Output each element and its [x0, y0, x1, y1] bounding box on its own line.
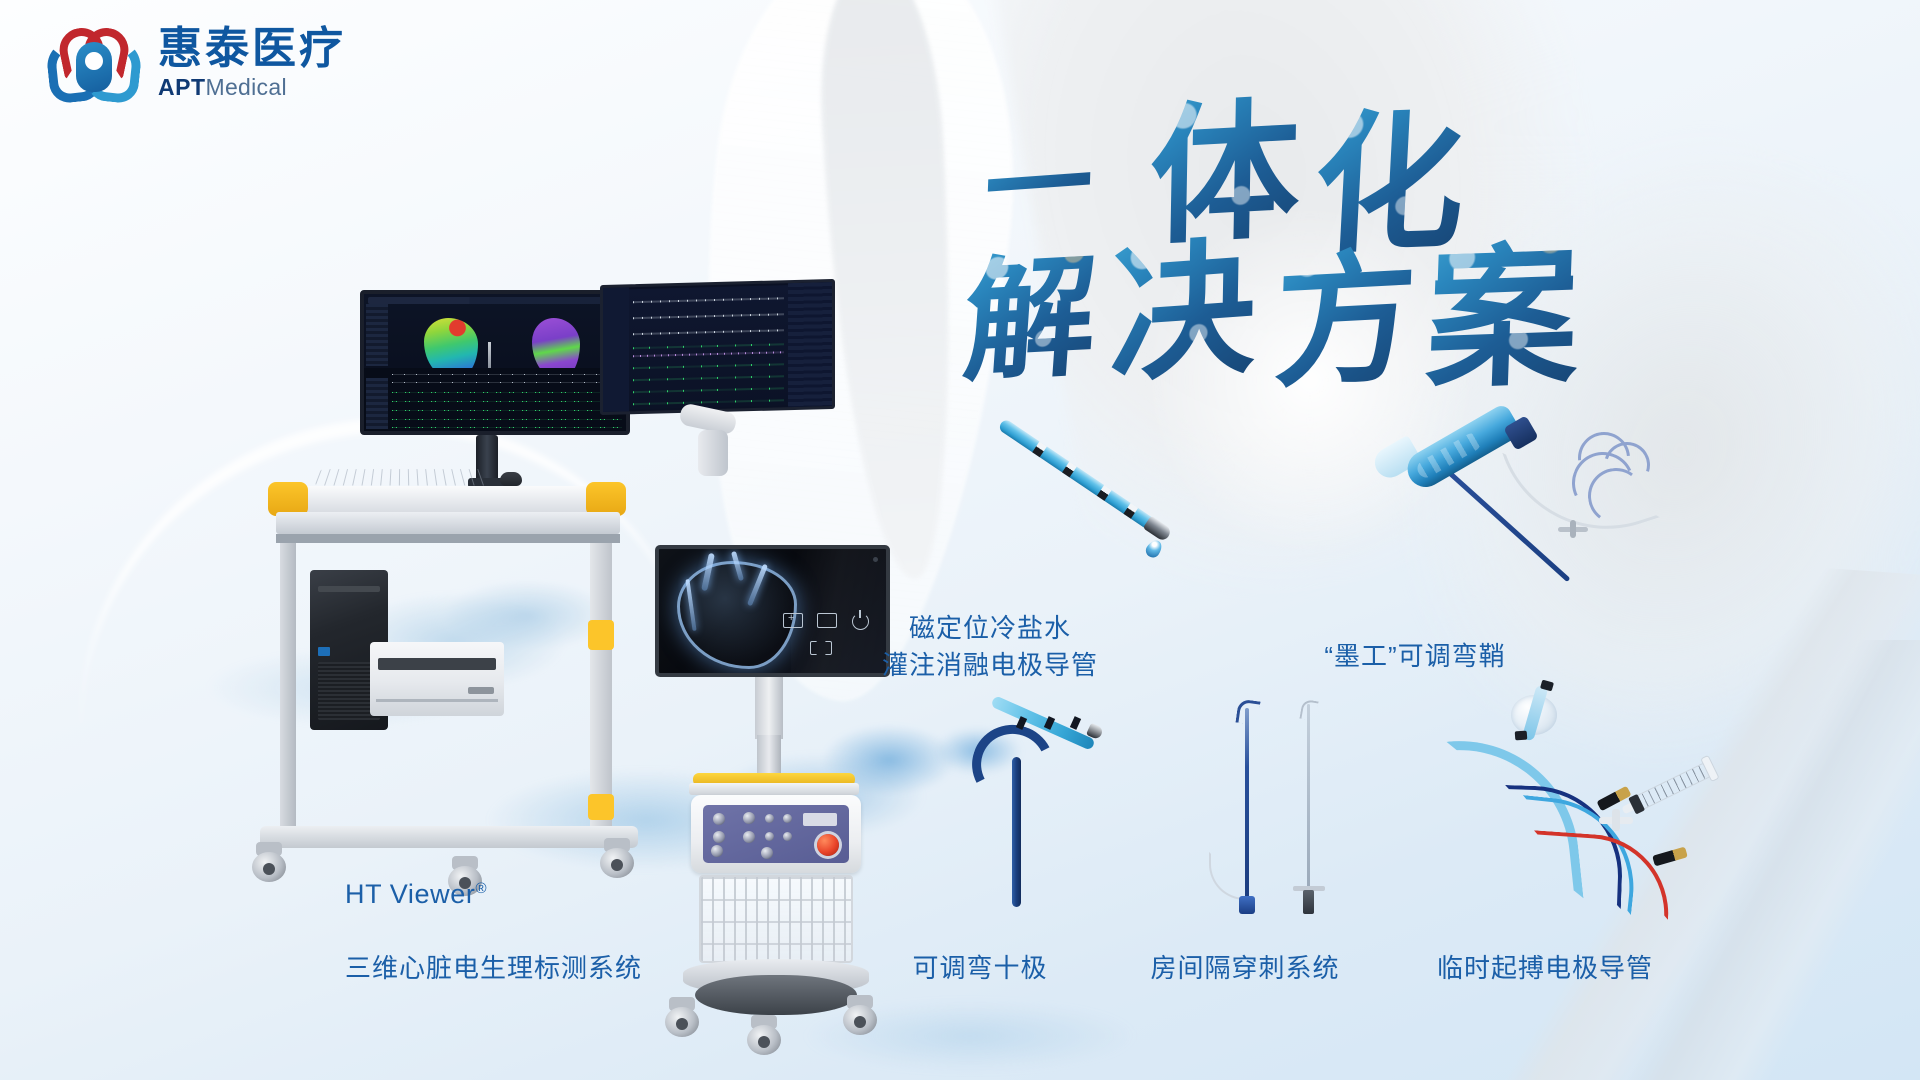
workstation-mouse[interactable]: [500, 472, 522, 486]
connector-port[interactable]: [743, 812, 755, 824]
pc-badge-icon: [318, 647, 330, 656]
sheath-hemostasis-valve: [1558, 520, 1588, 538]
logo-english-name: APTMedical: [158, 74, 346, 102]
logo-medical-text: Medical: [206, 74, 287, 100]
label-irrigated-catheter: 磁定位冷盐水 灌注消融电极导管: [860, 610, 1120, 684]
cart-storage-basket: [699, 875, 853, 963]
cart-handle-right[interactable]: [586, 482, 626, 516]
inflation-syringe: [1623, 748, 1733, 820]
emergency-stop-button[interactable]: [817, 834, 839, 856]
caster-hub: [854, 1016, 866, 1028]
cart-accent-block-lower: [588, 794, 614, 820]
caster-hub: [263, 863, 275, 875]
transseptal-puncture-system-image: [1215, 700, 1335, 915]
ecg-recording-monitor: [600, 279, 835, 415]
logo-core-shape: [76, 42, 112, 92]
cart-column-right: [590, 543, 612, 833]
dilator-curved-tip: [1299, 699, 1318, 721]
label-pacing-catheter: 临时起搏电极导管: [1405, 950, 1685, 987]
monitor-sidebar-channels: [366, 304, 388, 366]
ecg-trace: [392, 427, 622, 429]
ground-port[interactable]: [711, 845, 723, 857]
report-printer: [370, 642, 504, 716]
catheter-shaft: [997, 418, 1158, 532]
recording-tree-panel: [603, 287, 629, 412]
ht-viewer-name-cn: 三维心脏电生理标测系统: [345, 950, 642, 987]
rf-generator-connector-panel[interactable]: [703, 805, 849, 863]
ecg-trace: [392, 382, 622, 384]
connector-port[interactable]: [783, 832, 792, 841]
cart-caster: [252, 842, 286, 882]
saline-droplet: [1143, 537, 1165, 560]
display-mount-neck: [755, 677, 783, 739]
label-steerable-sheath: “墨工”可调弯鞘: [1290, 638, 1540, 675]
cart-handle-left[interactable]: [268, 482, 308, 516]
connector-port[interactable]: [765, 814, 774, 823]
screen-indicator-led: [873, 557, 878, 562]
connector-port[interactable]: [783, 814, 792, 823]
mapping-system-monitor: [360, 290, 630, 435]
coax-port[interactable]: [761, 847, 773, 859]
cart-caster: [747, 1015, 781, 1055]
needle-curved-tip: [1235, 699, 1260, 726]
panel-label-plate: [803, 813, 837, 826]
headline-char-5: 决: [1108, 190, 1257, 412]
dilator-hub: [1303, 890, 1314, 914]
logo-chinese-name: 惠泰医疗: [158, 26, 346, 72]
cart-caster: [665, 997, 699, 1037]
heart-illustration: [677, 561, 797, 669]
needle-hub: [1239, 896, 1255, 914]
monitor-arm-column: [698, 430, 728, 476]
rf-generator-unit: [691, 795, 861, 873]
ecg-trace: [392, 392, 622, 394]
pacing-lead-red: [1528, 830, 1673, 920]
printer-control-panel[interactable]: [468, 687, 494, 694]
workstation-keyboard[interactable]: [315, 469, 491, 485]
ecg-channel-labels: [366, 378, 388, 429]
cart-worktop: [280, 486, 620, 512]
connector-port[interactable]: [713, 831, 725, 843]
catheter-ablation-tip: [1143, 516, 1173, 543]
caster-hub: [676, 1018, 688, 1030]
label-decapolar-catheter: 可调弯十极: [880, 950, 1080, 987]
cart-drawer-shadow: [276, 534, 620, 543]
connector-port[interactable]: [765, 832, 774, 841]
printer-paper-tray: [378, 658, 496, 670]
ecg-trace: [392, 419, 622, 421]
trademark-symbol: ®: [475, 880, 487, 897]
pacing-lead-connector-pin: [1652, 847, 1688, 867]
display-cart-pole: [757, 735, 781, 777]
connector-port[interactable]: [713, 813, 725, 825]
catheter-electrode-band: [1070, 716, 1081, 730]
caster-hub: [758, 1036, 770, 1048]
temporary-pacing-catheter-image: [1455, 675, 1785, 905]
monitor-3d-map-pane: [364, 294, 626, 368]
cart-shelf: [689, 783, 859, 795]
syringe-barrel: [1634, 762, 1711, 811]
connector-port[interactable]: [743, 831, 755, 843]
pacing-electrode-proximal: [1515, 731, 1528, 741]
decapolar-catheter-image: [960, 715, 1100, 905]
needle-side-arm-tubing: [1209, 852, 1251, 900]
headline-char-4: 解: [958, 209, 1103, 408]
apt-medical-heart-logo-icon: [48, 22, 140, 106]
heart-imaging-touchscreen[interactable]: [655, 545, 890, 677]
cart-base-dark: [695, 975, 857, 1015]
ht-viewer-name-text: HT Viewer: [345, 879, 475, 909]
printer-output-slot: [376, 699, 498, 702]
ink-brush-stroke-secondary: [814, 0, 966, 583]
logo-apt-text: APT: [158, 74, 206, 100]
recording-measurements-table: [788, 282, 832, 407]
label-ht-viewer: HT Viewer® 三维心脏电生理标测系统: [345, 838, 642, 1024]
ecg-trace: [392, 401, 622, 403]
monitor-ecg-pane: [364, 368, 626, 431]
cart-drawer[interactable]: [276, 512, 620, 534]
ecg-trace: [392, 374, 622, 376]
banner-canvas: 惠泰医疗 APTMedical 一 体 化 解 决 方 案: [0, 0, 1920, 1080]
cart-column-left: [280, 543, 296, 833]
ecg-trace: [392, 410, 622, 412]
brand-logo[interactable]: 惠泰医疗 APTMedical: [48, 22, 346, 106]
ht-viewer-name-en: HT Viewer®: [345, 875, 642, 913]
irrigated-ablation-catheter-image: [957, 385, 1193, 600]
cart-caster: [843, 995, 877, 1035]
headline-calligraphy: 一 体 化 解 决 方 案: [975, 45, 1635, 345]
logo-wordmark: 惠泰医疗 APTMedical: [158, 26, 346, 102]
dilator-shaft: [1307, 704, 1310, 894]
label-transseptal-system: 房间隔穿刺系统: [1125, 950, 1365, 987]
cart-accent-block-upper: [588, 620, 614, 650]
monitor-toolbar: [368, 297, 622, 304]
steerable-sheath-image: [1390, 368, 1690, 543]
